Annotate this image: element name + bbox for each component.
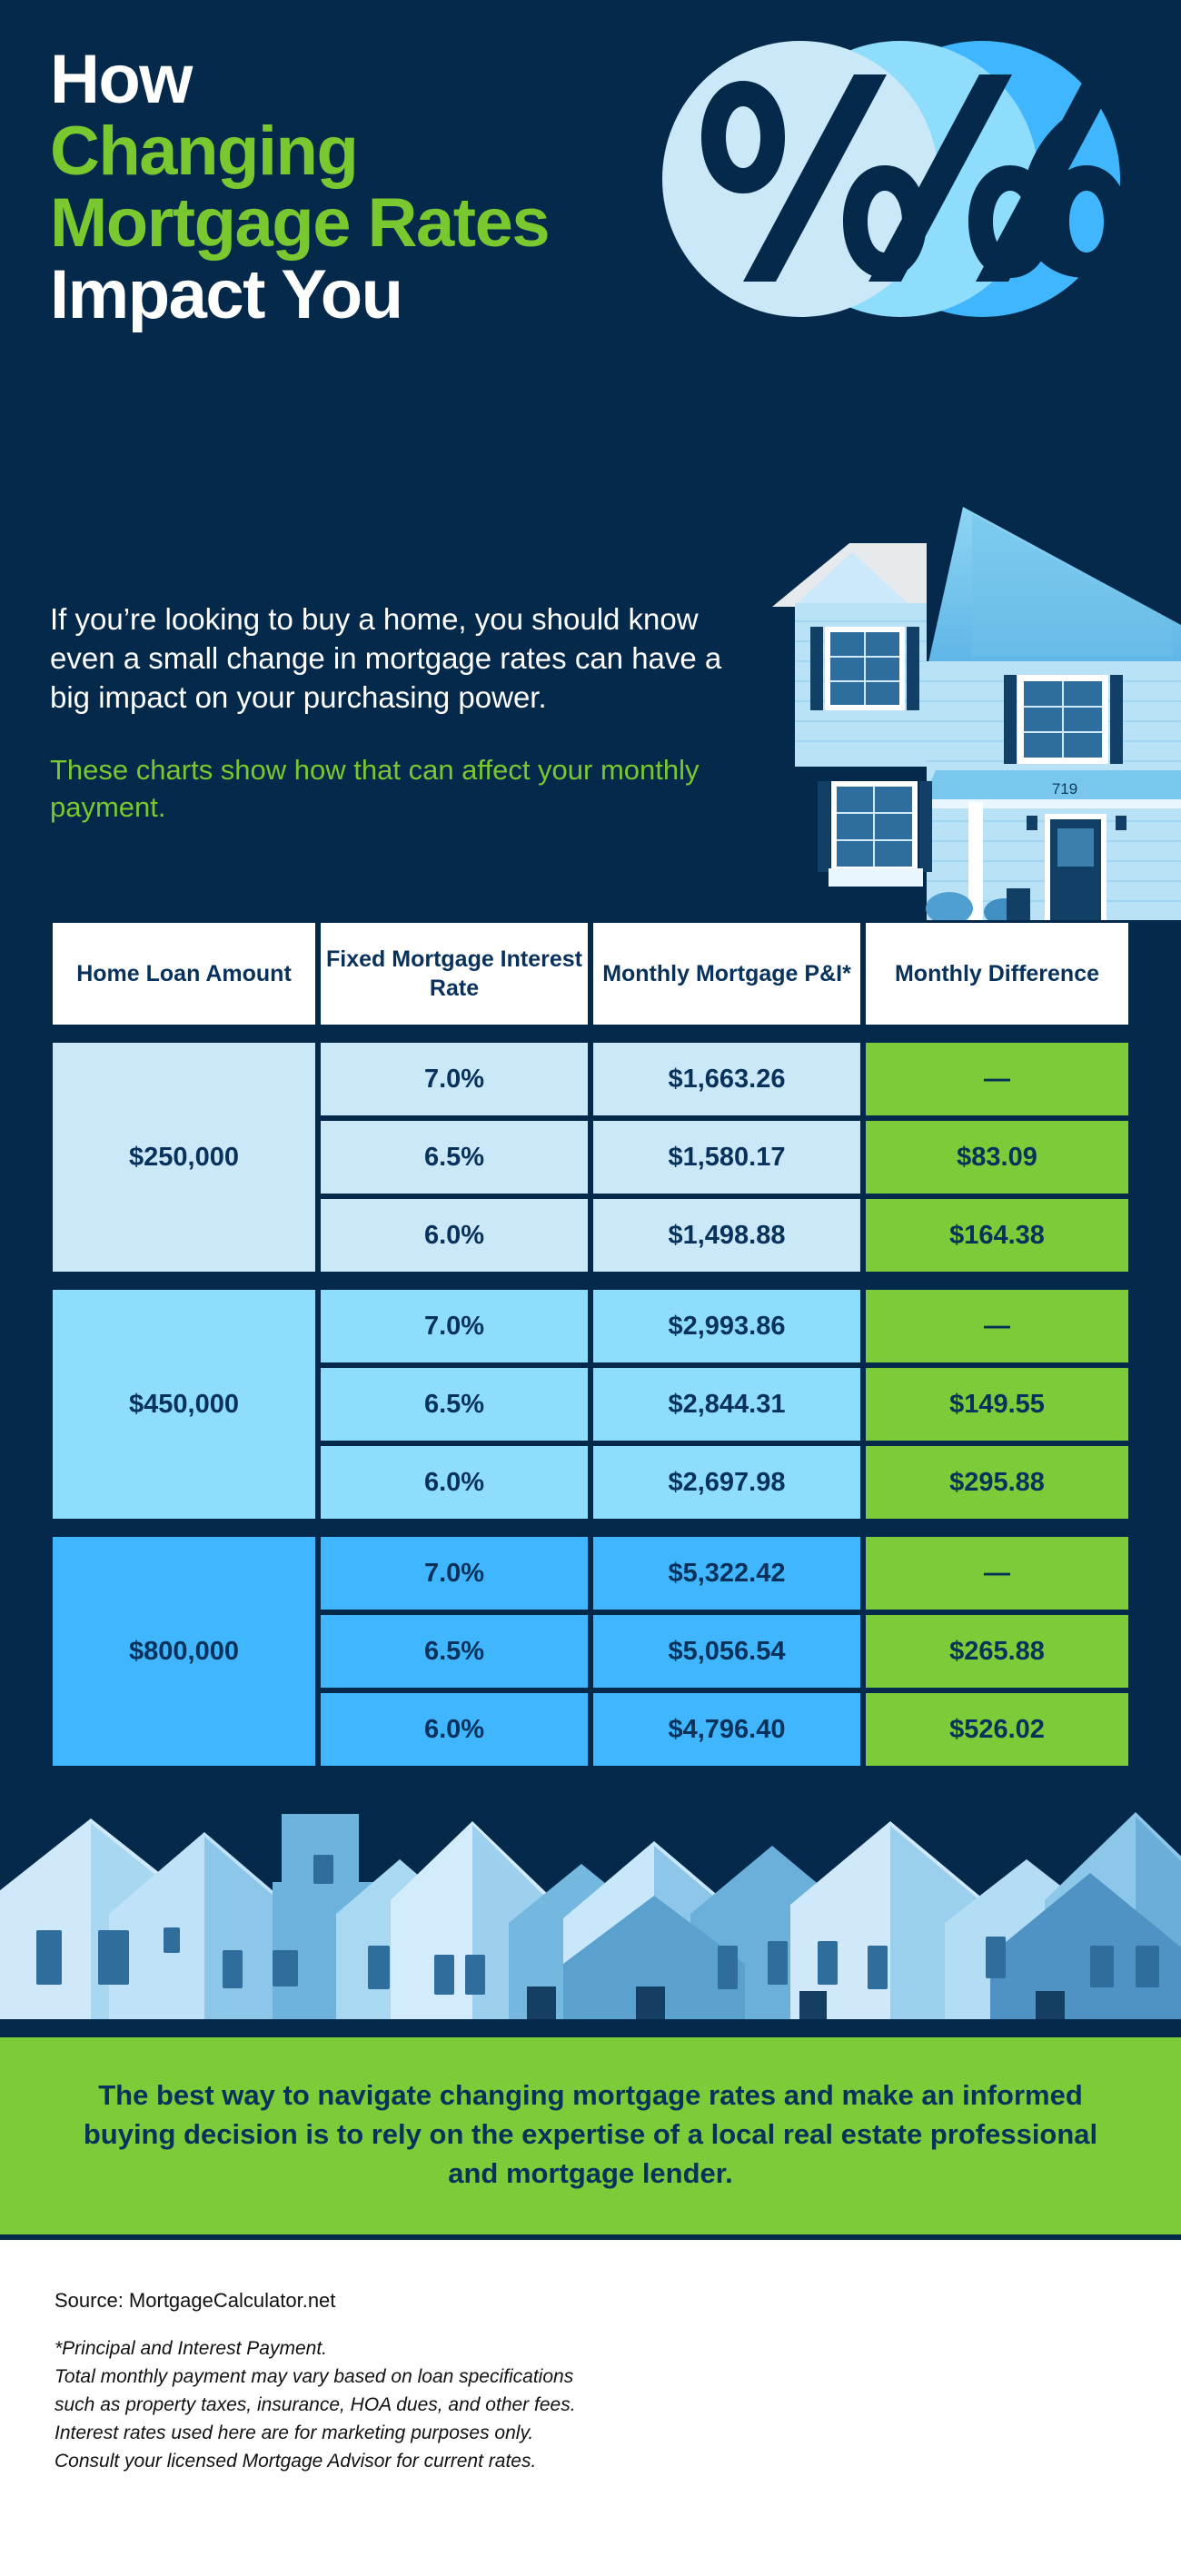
difference-cell: $265.88 [863, 1612, 1131, 1690]
group-spacer [50, 1521, 1131, 1534]
title-line-1: How [50, 44, 722, 115]
disclaimer-line: such as property taxes, insurance, HOA d… [55, 2391, 1126, 2419]
loan-amount-cell: $250,000 [50, 1040, 318, 1274]
payment-cell: $1,580.17 [590, 1118, 863, 1196]
table-header-row: Home Loan Amount Fixed Mortgage Interest… [50, 920, 1131, 1027]
rate-cell: 6.0% [318, 1443, 590, 1521]
rate-cell: 6.0% [318, 1196, 590, 1274]
difference-cell: — [863, 1287, 1131, 1365]
house-photo: 719 [745, 489, 1181, 920]
disclaimer-line: Total monthly payment may vary based on … [55, 2363, 1126, 2391]
loan-amount-cell: $450,000 [50, 1287, 318, 1521]
difference-cell: — [863, 1534, 1131, 1612]
table-body: $250,000 7.0% $1,663.26 — 6.5% $1,580.17… [50, 1027, 1131, 1769]
callout-text: The best way to navigate changing mortga… [73, 2076, 1108, 2193]
rate-cell: 7.0% [318, 1534, 590, 1612]
table-row: $450,000 7.0% $2,993.86 — [50, 1287, 1131, 1365]
callout-banner: The best way to navigate changing mortga… [0, 2032, 1181, 2240]
payment-cell: $2,697.98 [590, 1443, 863, 1521]
disclaimer-block: *Principal and Interest Payment. Total m… [55, 2334, 1126, 2475]
neighborhood-illustration [0, 1769, 1181, 2032]
payment-cell: $5,322.42 [590, 1534, 863, 1612]
rate-cell: 7.0% [318, 1040, 590, 1118]
title-line-4: Impact You [50, 259, 722, 331]
table-row: $250,000 7.0% $1,663.26 — [50, 1040, 1131, 1118]
difference-cell: $83.09 [863, 1118, 1131, 1196]
payment-cell: $1,498.88 [590, 1196, 863, 1274]
difference-cell: $526.02 [863, 1690, 1131, 1769]
percent-icon [660, 38, 1132, 320]
rate-cell: 7.0% [318, 1287, 590, 1365]
comparison-table-section: Home Loan Amount Fixed Mortgage Interest… [0, 920, 1181, 1769]
rate-cell: 6.5% [318, 1612, 590, 1690]
source-line: Source: MortgageCalculator.net [55, 2287, 1126, 2314]
header-interest-rate: Fixed Mortgage Interest Rate [318, 920, 590, 1027]
rate-cell: 6.5% [318, 1365, 590, 1443]
payment-cell: $4,796.40 [590, 1690, 863, 1769]
header-home-loan-amount: Home Loan Amount [50, 920, 318, 1027]
loan-amount-cell: $800,000 [50, 1534, 318, 1769]
payment-cell: $2,993.86 [590, 1287, 863, 1365]
group-spacer [50, 1274, 1131, 1287]
headline-block: How Changing Mortgage Rates Impact You [50, 44, 722, 331]
group-spacer [50, 1027, 1131, 1040]
mortgage-comparison-table: Home Loan Amount Fixed Mortgage Interest… [50, 920, 1131, 1769]
house-address-number: 719 [1052, 780, 1077, 798]
payment-cell: $2,844.31 [590, 1365, 863, 1443]
table-row: $800,000 7.0% $5,322.42 — [50, 1534, 1131, 1612]
footer-section: Source: MortgageCalculator.net *Principa… [0, 2240, 1181, 2512]
intro-highlight: These charts show how that can affect yo… [50, 751, 740, 826]
rate-cell: 6.0% [318, 1690, 590, 1769]
difference-cell: $164.38 [863, 1196, 1131, 1274]
title-line-2: Changing [50, 115, 722, 187]
rate-cell: 6.5% [318, 1118, 590, 1196]
intro-paragraph: If you’re looking to buy a home, you sho… [50, 599, 740, 717]
difference-cell: $149.55 [863, 1365, 1131, 1443]
payment-cell: $1,663.26 [590, 1040, 863, 1118]
disclaimer-line: Interest rates used here are for marketi… [55, 2419, 1126, 2447]
difference-cell: — [863, 1040, 1131, 1118]
title-line-3: Mortgage Rates [50, 187, 722, 259]
intro-text-block: If you’re looking to buy a home, you sho… [50, 599, 740, 826]
disclaimer-line: Consult your licensed Mortgage Advisor f… [55, 2447, 1126, 2475]
difference-cell: $295.88 [863, 1443, 1131, 1521]
header-monthly-payment: Monthly Mortgage P&I* [590, 920, 863, 1027]
hero-section: 719 How Changing Mortgage Rates Impact Y… [0, 0, 1181, 920]
payment-cell: $5,056.54 [590, 1612, 863, 1690]
disclaimer-line: *Principal and Interest Payment. [55, 2334, 1126, 2363]
header-monthly-difference: Monthly Difference [863, 920, 1131, 1027]
